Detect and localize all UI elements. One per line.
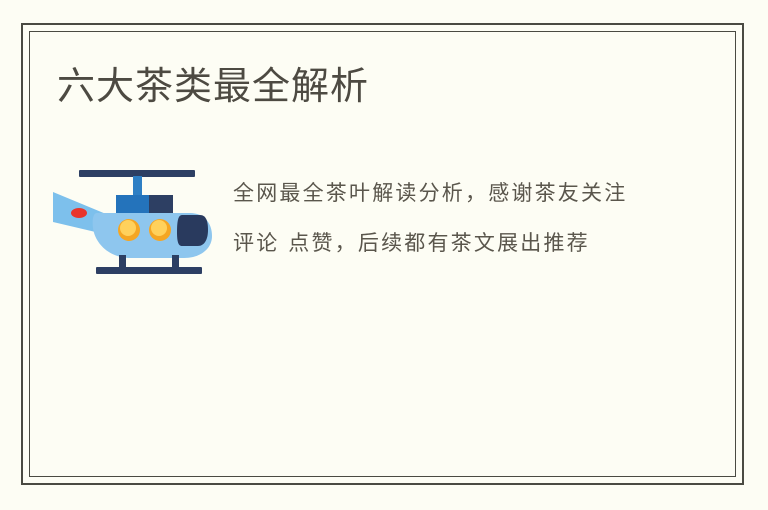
tail-light-icon	[71, 208, 87, 218]
engine-housing-left-icon	[116, 195, 149, 213]
rotor-blade-icon	[79, 170, 195, 177]
cockpit-window-icon	[177, 215, 208, 246]
helicopter-illustration	[48, 162, 220, 277]
porthole-highlight-icon-2	[151, 220, 167, 236]
rotor-mast-icon	[133, 176, 142, 198]
landing-skid-icon	[96, 267, 202, 274]
porthole-highlight-icon-1	[120, 220, 136, 236]
poster-card: 六大茶类最全解析	[0, 0, 768, 510]
page-title: 六大茶类最全解析	[57, 62, 369, 110]
engine-housing-right-icon	[149, 195, 173, 213]
body-text: 全网最全茶叶解读分析，感谢茶友关注 评论 点赞，后续都有茶文展出推荐	[233, 168, 645, 268]
skid-strut-icon-right	[172, 255, 179, 268]
skid-strut-icon-left	[119, 255, 126, 268]
